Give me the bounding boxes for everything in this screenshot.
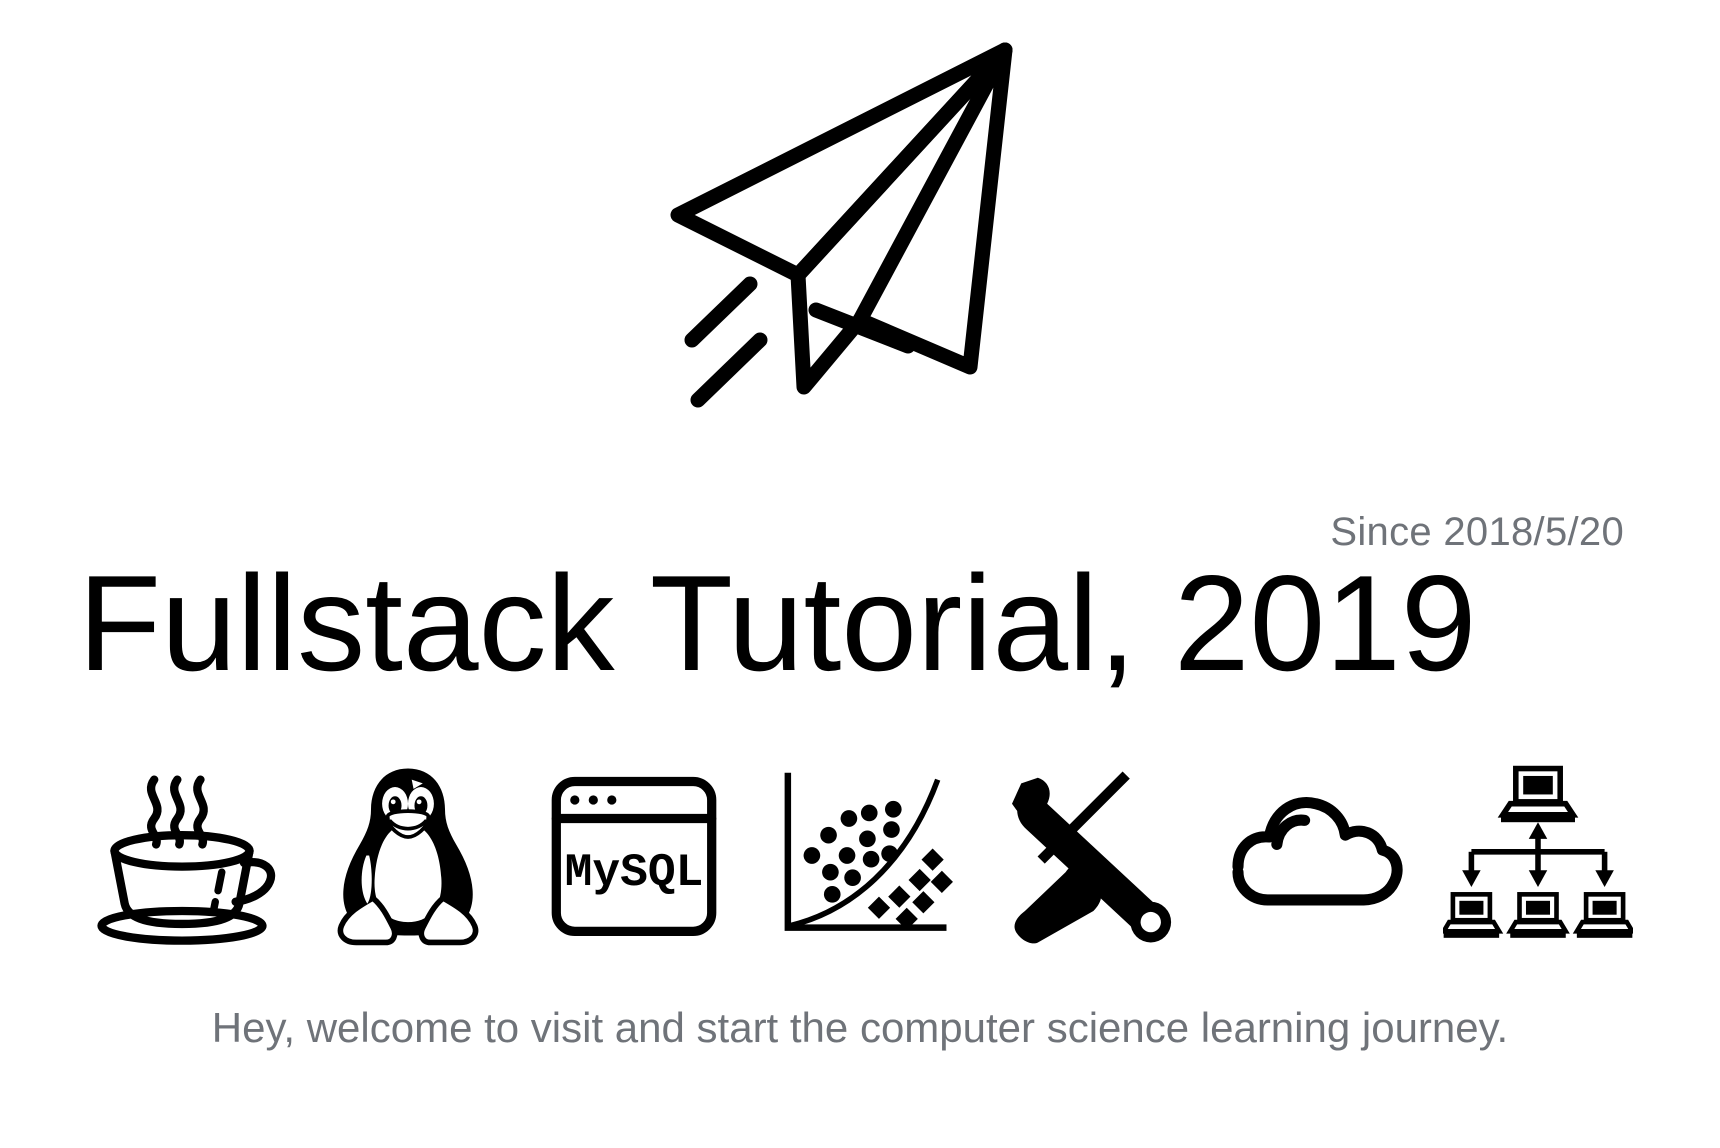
mysql-window-icon: MySQL — [539, 763, 729, 948]
tagline-row: Hey, welcome to visit and start the comp… — [0, 1000, 1720, 1056]
page-title-row: Fullstack Tutorial, 2019 — [0, 548, 1720, 698]
tagline: Hey, welcome to visit and start the comp… — [212, 1004, 1508, 1051]
tech-icon-java — [87, 763, 277, 948]
tech-icon-row: MySQL — [0, 748, 1720, 963]
client-laptop-2-icon — [1510, 894, 1566, 937]
tech-icon-cloud — [1217, 763, 1407, 948]
tech-icon-data-science — [765, 763, 955, 948]
server-laptop-icon — [1501, 769, 1575, 823]
tech-icon-linux — [313, 763, 503, 948]
tech-icon-mysql: MySQL — [539, 763, 729, 948]
hero-logo — [0, 22, 1720, 422]
client-laptop-3-icon — [1577, 894, 1633, 937]
network-topology-icon — [1443, 763, 1633, 948]
mysql-label: MySQL — [565, 846, 704, 899]
paper-plane-icon — [650, 22, 1070, 422]
tech-icon-network — [1443, 763, 1633, 948]
scatter-plot-icon — [765, 763, 955, 948]
tech-icon-tools — [991, 763, 1181, 948]
client-laptop-1-icon — [1444, 894, 1500, 937]
tools-icon — [991, 763, 1181, 948]
cloud-icon — [1217, 763, 1407, 948]
speed-line-1 — [692, 284, 750, 340]
speed-line-2 — [698, 340, 760, 400]
linux-penguin-icon — [313, 763, 503, 948]
page-title: Fullstack Tutorial, 2019 — [78, 548, 1642, 698]
coffee-cup-icon — [87, 763, 277, 948]
landing-page: Since 2018/5/20 Fullstack Tutorial, 2019 — [0, 0, 1720, 1148]
